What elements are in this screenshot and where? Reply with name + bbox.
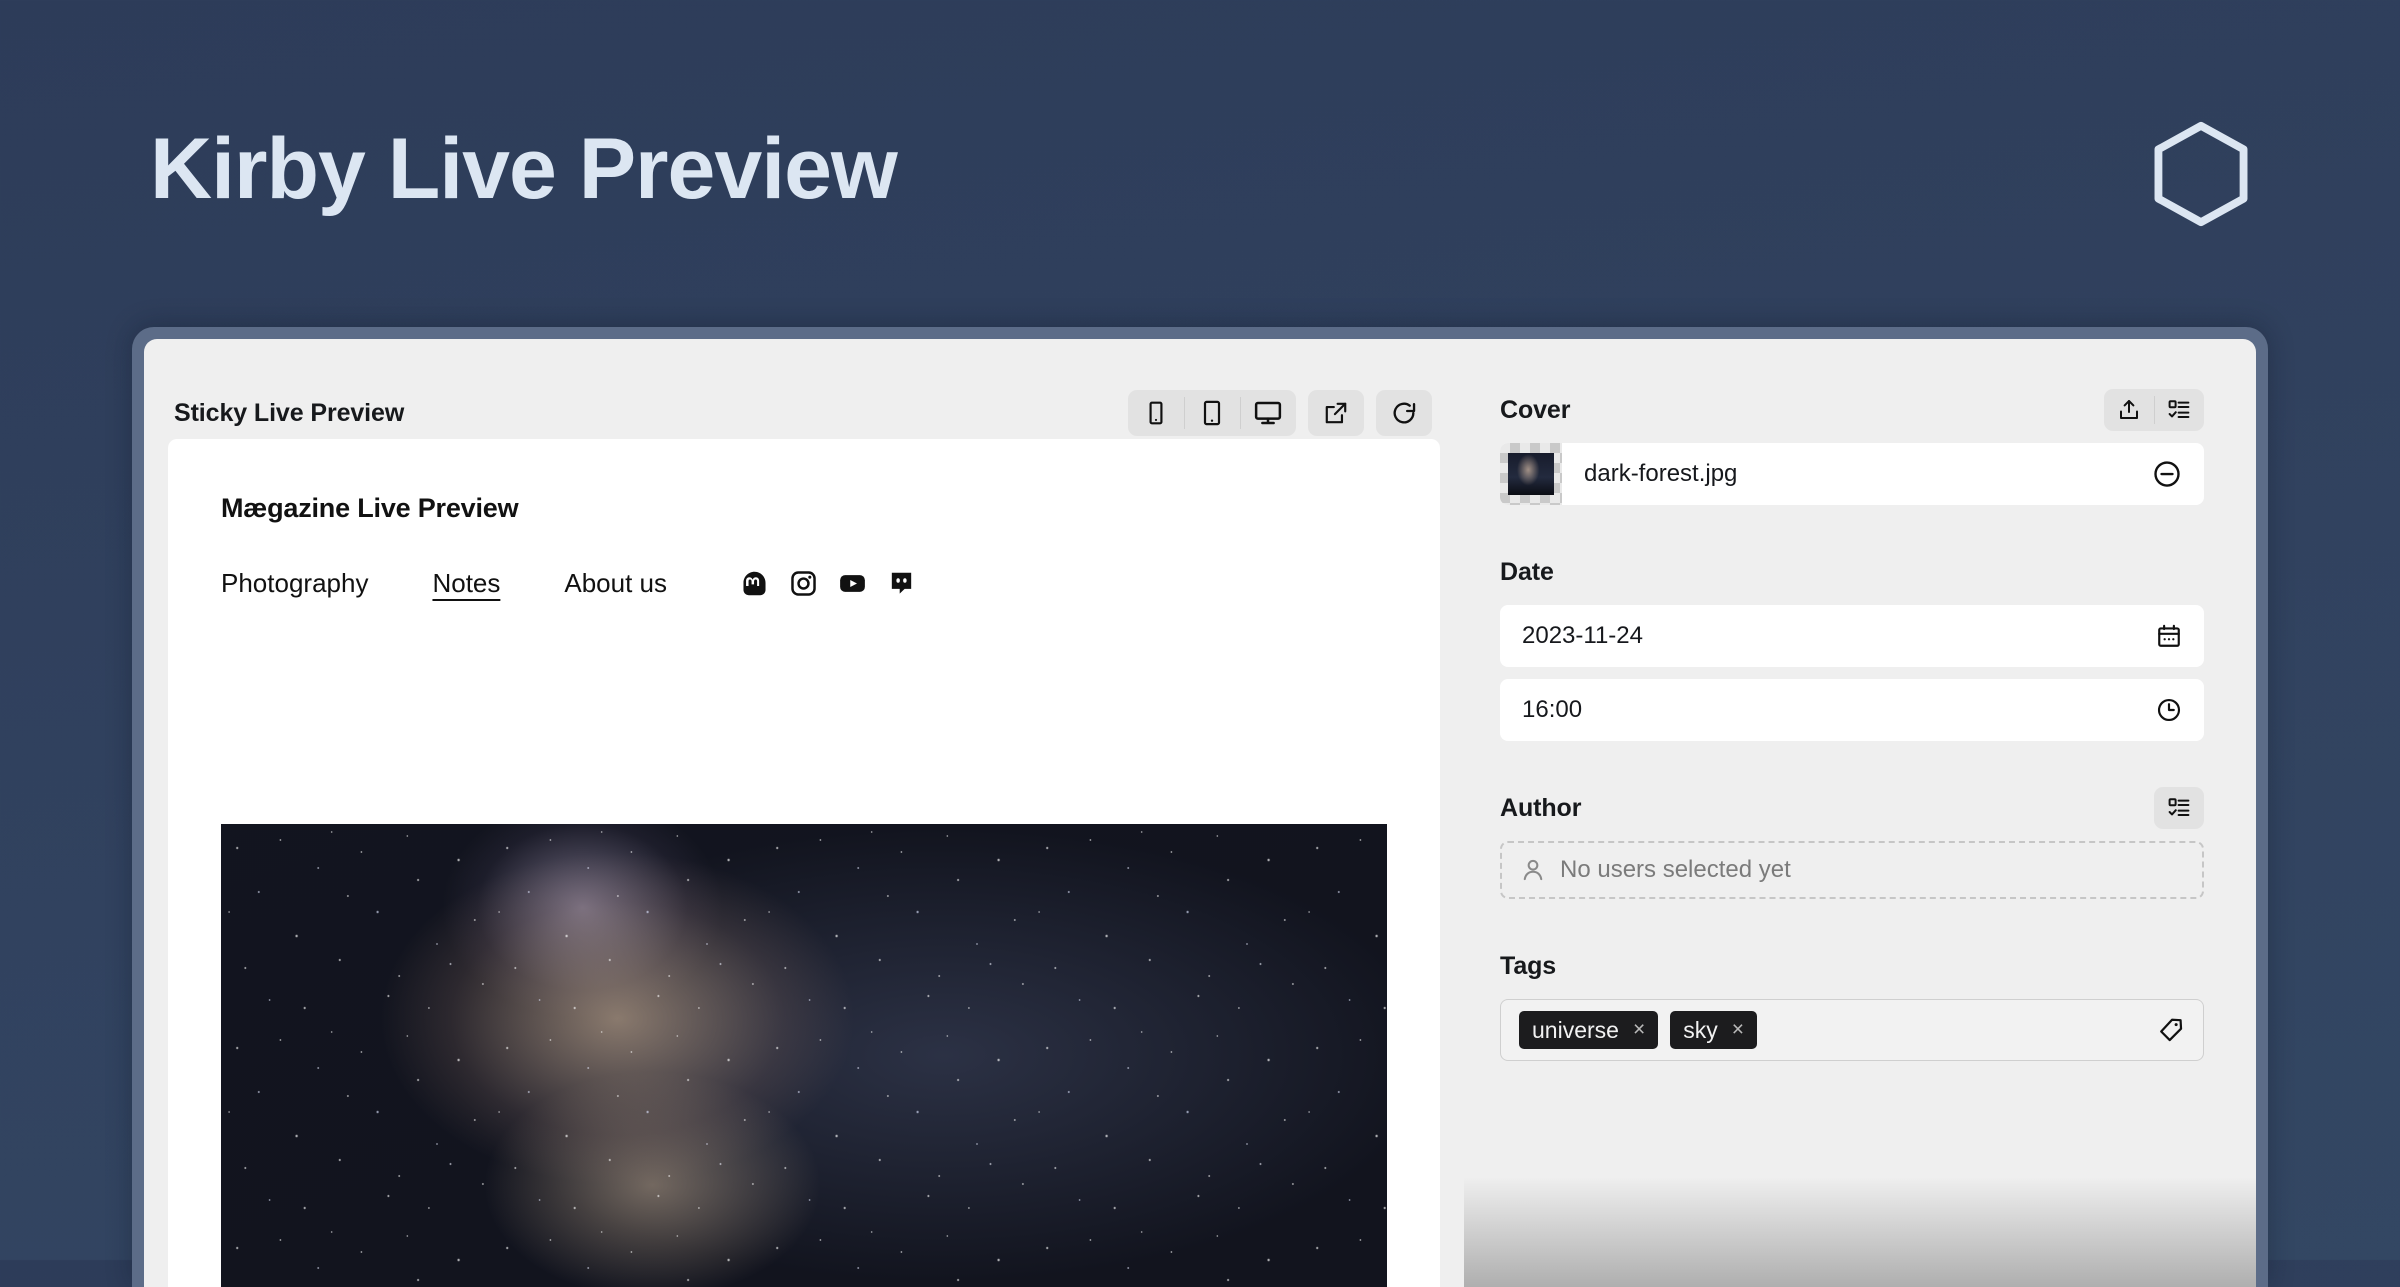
nav-link-about-us[interactable]: About us xyxy=(564,568,667,599)
time-input-value: 16:00 xyxy=(1522,696,1582,724)
clock-icon xyxy=(2156,697,2182,723)
author-empty-text: No users selected yet xyxy=(1560,856,1791,884)
tag-icon xyxy=(2157,1016,2185,1044)
mastodon-icon[interactable] xyxy=(741,570,768,597)
tag-label: universe xyxy=(1532,1017,1619,1044)
preview-tool-buttons xyxy=(1128,390,1432,436)
tag-remove-icon[interactable]: × xyxy=(1633,1018,1645,1042)
date-input-value: 2023-11-24 xyxy=(1522,622,1643,650)
mobile-icon xyxy=(1143,400,1169,426)
refresh-button[interactable] xyxy=(1376,390,1432,436)
app-window-frame: Sticky Live Preview xyxy=(132,327,2268,1287)
author-field-header: Author xyxy=(1500,785,2204,831)
sidebar-bottom-fade xyxy=(1464,1177,2256,1287)
refresh-icon xyxy=(1390,399,1418,427)
tag-chip[interactable]: sky × xyxy=(1670,1011,1757,1049)
author-actions xyxy=(2154,787,2204,829)
live-preview-toolbar: Sticky Live Preview xyxy=(168,387,1440,439)
open-external-button[interactable] xyxy=(1308,390,1364,436)
desktop-view-button[interactable] xyxy=(1240,390,1296,436)
cover-remove-button[interactable] xyxy=(2152,459,2182,489)
fields-sidebar: Cover xyxy=(1464,339,2256,1287)
field-author: Author xyxy=(1500,785,2204,899)
kirby-panel: Sticky Live Preview xyxy=(144,339,2256,1287)
tag-label: sky xyxy=(1683,1017,1718,1044)
cover-actions xyxy=(2104,389,2204,431)
live-preview-pane: Sticky Live Preview xyxy=(144,339,1464,1287)
date-label: Date xyxy=(1500,558,1554,587)
list-check-icon xyxy=(2167,796,2191,820)
cover-field-header: Cover xyxy=(1500,387,2204,433)
page-title: Kirby Live Preview xyxy=(150,126,897,212)
hero-banner: Kirby Live Preview xyxy=(0,0,2400,330)
field-tags: Tags universe × sky × xyxy=(1500,943,2204,1061)
tag-remove-icon[interactable]: × xyxy=(1732,1018,1744,1042)
device-size-segmented-control xyxy=(1128,390,1296,436)
upload-icon xyxy=(2117,398,2141,422)
time-input[interactable]: 16:00 xyxy=(1500,679,2204,741)
instagram-icon[interactable] xyxy=(790,570,817,597)
site-navigation: Photography Notes About us xyxy=(221,568,1440,599)
cover-label: Cover xyxy=(1500,396,1570,425)
cover-file-row[interactable]: dark-forest.jpg xyxy=(1500,443,2204,505)
discord-icon[interactable] xyxy=(888,570,915,597)
date-input[interactable]: 2023-11-24 xyxy=(1500,605,2204,667)
tags-label: Tags xyxy=(1500,952,1556,981)
author-select-button[interactable] xyxy=(2154,787,2204,829)
site-title: Mægazine Live Preview xyxy=(221,493,1440,524)
tags-input[interactable]: universe × sky × xyxy=(1500,999,2204,1061)
tag-chip[interactable]: universe × xyxy=(1519,1011,1658,1049)
tablet-view-button[interactable] xyxy=(1184,390,1240,436)
minus-circle-icon xyxy=(2152,459,2182,489)
field-cover: Cover xyxy=(1500,387,2204,505)
external-link-icon xyxy=(1323,400,1349,426)
time-picker-button[interactable] xyxy=(2156,697,2182,723)
cover-thumbnail xyxy=(1500,443,1562,505)
mobile-view-button[interactable] xyxy=(1128,390,1184,436)
youtube-icon[interactable] xyxy=(839,570,866,597)
author-label: Author xyxy=(1500,794,1581,823)
site-hero-image xyxy=(221,824,1387,1287)
cover-upload-button[interactable] xyxy=(2104,389,2154,431)
desktop-icon xyxy=(1253,398,1283,428)
cover-file-name: dark-forest.jpg xyxy=(1584,460,2152,488)
user-icon xyxy=(1520,857,1546,883)
calendar-icon xyxy=(2156,623,2182,649)
field-date: Date 2023-11-24 xyxy=(1500,549,2204,741)
nav-link-notes[interactable]: Notes xyxy=(432,568,500,599)
live-preview-label: Sticky Live Preview xyxy=(174,399,404,428)
nav-link-photography[interactable]: Photography xyxy=(221,568,368,599)
tags-field-header: Tags xyxy=(1500,943,2204,989)
tags-field-button[interactable] xyxy=(2157,1016,2185,1044)
social-links xyxy=(741,570,915,597)
preview-iframe[interactable]: Mægazine Live Preview Photography Notes … xyxy=(168,439,1440,1287)
cover-select-button[interactable] xyxy=(2154,389,2204,431)
list-check-icon xyxy=(2167,398,2191,422)
date-field-header: Date xyxy=(1500,549,2204,595)
kirby-hexagon-logo-icon xyxy=(2145,118,2257,230)
calendar-picker-button[interactable] xyxy=(2156,623,2182,649)
tablet-icon xyxy=(1198,399,1226,427)
author-empty-state[interactable]: No users selected yet xyxy=(1500,841,2204,899)
